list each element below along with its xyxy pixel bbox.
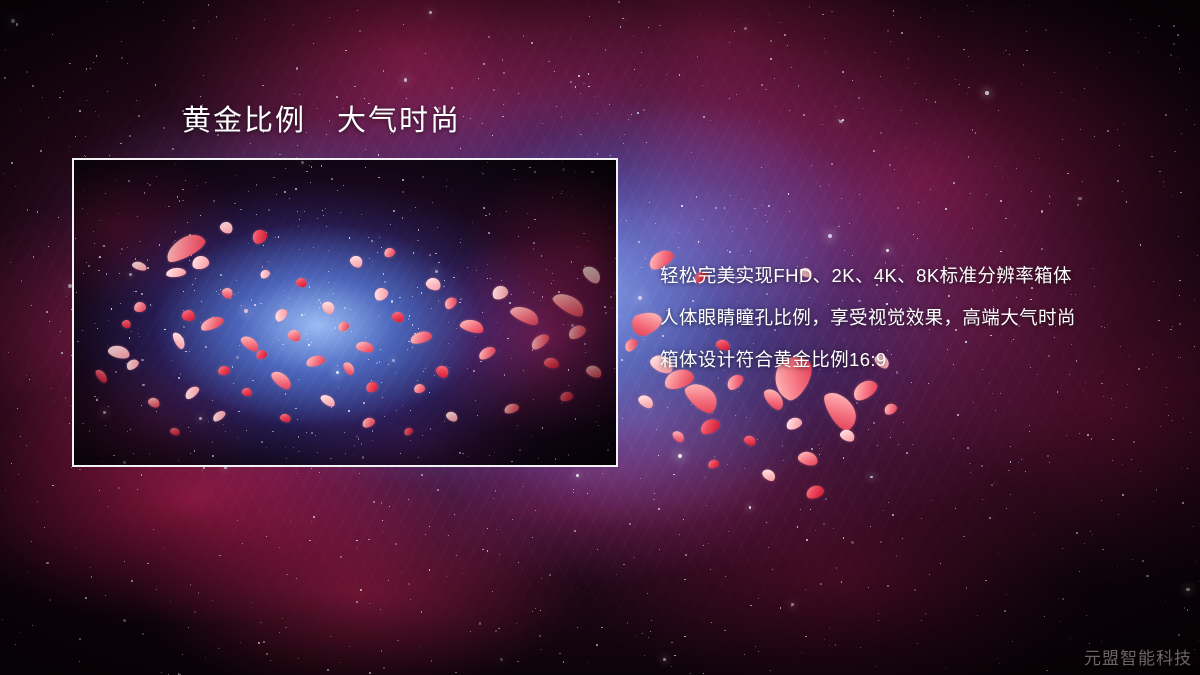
framed-image-content <box>74 160 616 465</box>
page-title: 黄金比例 大气时尚 <box>182 102 461 140</box>
body-copy-line: 人体眼睛瞳孔比例，享受视觉效果，高端大气时尚 <box>660 297 1170 339</box>
body-copy-block: 轻松完美实现FHD、2K、4K、8K标准分辨率箱体 人体眼睛瞳孔比例，享受视觉效… <box>660 255 1170 381</box>
body-copy-line: 轻松完美实现FHD、2K、4K、8K标准分辨率箱体 <box>660 255 1170 297</box>
body-copy-line: 箱体设计符合黄金比例16:9 <box>660 339 1170 381</box>
watermark-logo-text: 元盟智能科技 <box>1084 644 1192 669</box>
framed-vignette-overlay <box>74 160 616 465</box>
framed-image-panel <box>72 158 618 467</box>
slide-canvas: 黄金比例 大气时尚 轻松完美实现FHD、2K、4K、8K标准分辨率箱体 人体眼睛… <box>0 0 1200 675</box>
